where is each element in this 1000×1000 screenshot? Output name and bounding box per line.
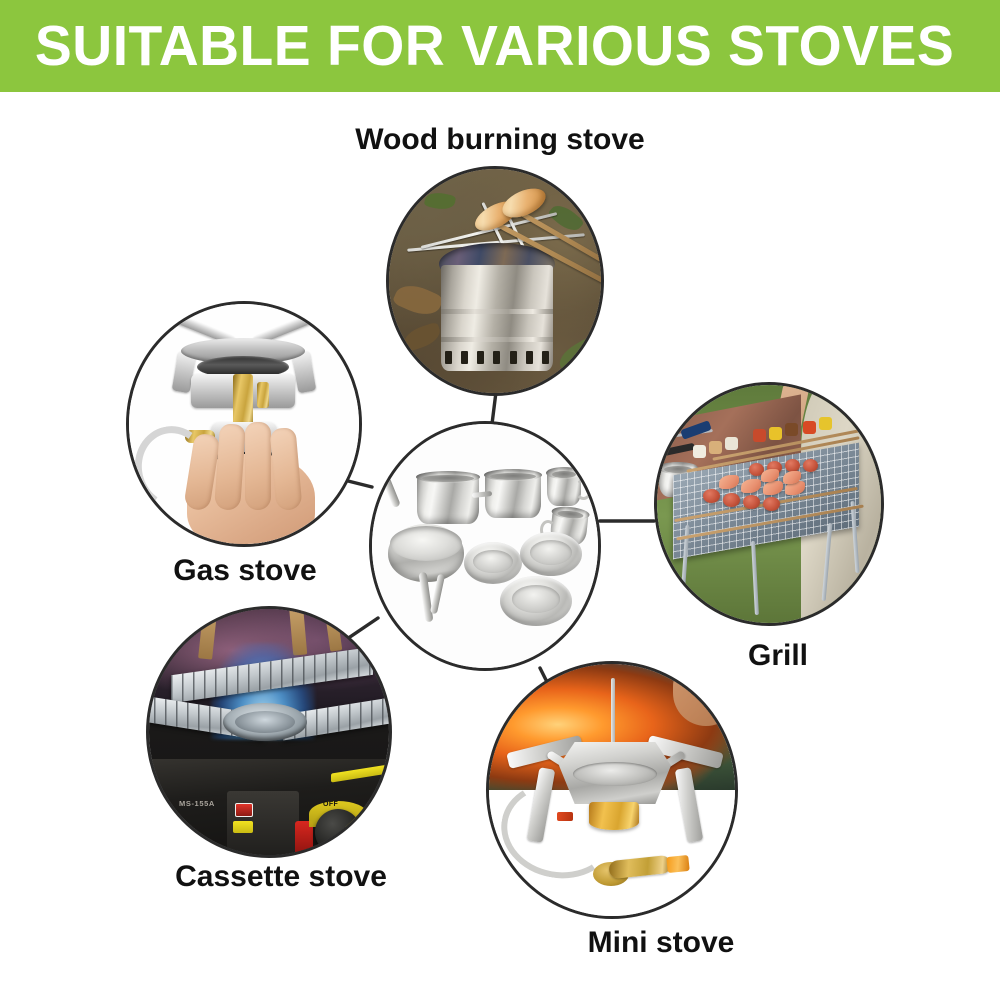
bubble-cassette-stove: OFF MS-155A xyxy=(146,606,392,858)
label-wood-burning-stove: Wood burning stove xyxy=(355,125,644,155)
kebab-vegetable xyxy=(819,417,832,430)
bubble-mini-stove xyxy=(486,661,738,919)
cookware-pot-large xyxy=(417,476,479,524)
grilled-sausage xyxy=(703,489,720,503)
cookware-plate-mid-left xyxy=(464,542,522,584)
infographic-page: SUITABLE FOR VARIOUS STOVES xyxy=(0,0,1000,1000)
gas-stove-brass-stem xyxy=(233,374,253,428)
mini-stove-burner-ring xyxy=(573,762,657,786)
cookware-pan-handle-upper xyxy=(379,470,401,508)
label-cassette-stove: Cassette stove xyxy=(175,862,387,892)
label-gas-stove: Gas stove xyxy=(173,556,316,586)
cookware-mug-upper-handle xyxy=(575,479,592,500)
kebab-vegetable xyxy=(785,423,798,436)
mini-stove-orange-connector xyxy=(666,855,690,873)
cassette-stove-model-text: MS-155A xyxy=(179,799,215,808)
grilled-sausage xyxy=(743,495,760,509)
cassette-stove-scene: OFF MS-155A xyxy=(149,609,389,855)
mini-stove-brass-valve xyxy=(608,855,672,879)
burner-cap xyxy=(235,711,295,733)
cassette-stove-warning-label xyxy=(233,821,253,833)
mini-stove-stem xyxy=(611,678,615,748)
wood-stove-vent xyxy=(526,351,533,364)
grilled-sausage xyxy=(723,493,740,507)
kebab-vegetable xyxy=(693,445,706,458)
leaf-litter xyxy=(555,336,600,373)
cookware-pot-medium xyxy=(485,474,541,518)
kebab-vegetable xyxy=(709,441,722,454)
kebab-vegetable xyxy=(769,427,782,440)
person-hand-background xyxy=(673,661,738,726)
cassette-stove-control-knob[interactable] xyxy=(315,809,361,855)
grilled-sausage xyxy=(763,497,780,511)
connector-wood xyxy=(492,392,496,424)
wood-burning-stove-scene xyxy=(389,169,601,393)
wood-stove-vent xyxy=(461,351,468,364)
wood-stove-band xyxy=(441,337,553,342)
mini-stove-scene xyxy=(489,664,735,916)
leaf-litter xyxy=(392,279,445,321)
wood-stove-vent xyxy=(542,351,549,364)
cassette-stove-off-text: OFF xyxy=(323,801,338,808)
label-mini-stove: Mini stove xyxy=(588,928,735,958)
hand-finger xyxy=(245,422,271,510)
page-title: SUITABLE FOR VARIOUS STOVES xyxy=(0,18,954,75)
kebab-vegetable xyxy=(725,437,738,450)
wood-stove-vent-row xyxy=(445,351,549,364)
kebab-vegetable xyxy=(803,421,816,434)
bubble-wood-burning-stove xyxy=(386,166,604,396)
cassette-stove-red-button[interactable] xyxy=(235,803,253,817)
kebab-vegetable xyxy=(753,429,766,442)
cookware-plate-mid-right xyxy=(520,532,582,576)
grill-leg xyxy=(751,541,759,615)
bubble-gas-stove xyxy=(126,301,362,547)
grilled-sausage xyxy=(803,459,818,472)
wood-stove-vent xyxy=(477,351,484,364)
cookware-scene xyxy=(372,424,598,668)
wood-stove-vent xyxy=(445,351,452,364)
cookware-plate-front xyxy=(500,576,572,626)
bubble-cookware-set xyxy=(369,421,601,671)
label-grill: Grill xyxy=(748,641,808,671)
gas-stove-brass-nozzle xyxy=(257,382,269,408)
bubble-grill xyxy=(654,382,884,626)
wood-stove-vent xyxy=(510,351,517,364)
leaf-litter xyxy=(424,190,457,212)
wood-stove-vent xyxy=(493,351,500,364)
grill-scene xyxy=(657,385,881,623)
leaf-litter xyxy=(401,322,443,353)
wood-stove-band xyxy=(441,309,553,314)
header-banner: SUITABLE FOR VARIOUS STOVES xyxy=(0,0,1000,92)
gas-stove-scene xyxy=(129,304,359,544)
